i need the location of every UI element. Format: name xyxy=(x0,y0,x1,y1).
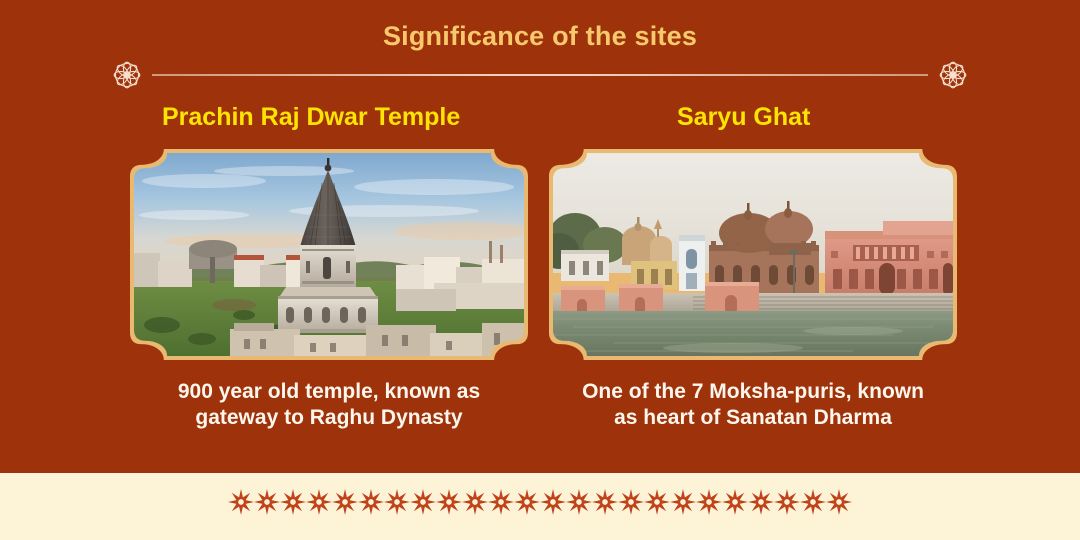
site-caption: 900 year old temple, known as gateway to… xyxy=(130,379,528,433)
eight-point-star-icon xyxy=(410,489,436,517)
photo-frame xyxy=(549,149,957,360)
site-heading: Prachin Raj Dwar Temple xyxy=(132,104,528,132)
eight-point-star-icon xyxy=(384,489,410,517)
photo-frame xyxy=(130,149,528,360)
site-card-saryu-ghat: Saryu Ghat xyxy=(549,104,957,432)
eight-point-star-icon xyxy=(436,489,462,517)
eight-point-star-icon xyxy=(514,489,540,517)
eight-point-star-icon xyxy=(306,489,332,517)
eight-point-star-icon xyxy=(280,489,306,517)
eight-point-star-icon xyxy=(826,489,852,517)
eight-point-star-icon xyxy=(722,489,748,517)
site-caption: One of the 7 Moksha-puris, known as hear… xyxy=(549,379,957,433)
mandala-flower-icon xyxy=(936,58,970,92)
mandala-flower-icon xyxy=(110,58,144,92)
eight-point-star-icon xyxy=(618,489,644,517)
site-heading: Saryu Ghat xyxy=(551,104,957,132)
decorative-divider xyxy=(110,58,970,92)
eight-point-star-icon xyxy=(774,489,800,517)
footer-band xyxy=(0,473,1080,540)
eight-point-star-icon xyxy=(228,489,254,517)
eight-point-star-icon xyxy=(670,489,696,517)
eight-point-star-icon xyxy=(462,489,488,517)
eight-point-star-icon xyxy=(748,489,774,517)
eight-point-star-icon xyxy=(540,489,566,517)
prachin-raj-dwar-temple-photo xyxy=(134,153,524,356)
eight-point-star-icon xyxy=(332,489,358,517)
eight-point-star-icon xyxy=(644,489,670,517)
eight-point-star-icon xyxy=(358,489,384,517)
eight-point-star-icon xyxy=(696,489,722,517)
divider-rule xyxy=(152,74,928,76)
eight-point-star-icon xyxy=(800,489,826,517)
page-title: Significance of the sites xyxy=(0,21,1080,52)
site-card-prachin-raj-dwar-temple: Prachin Raj Dwar Temple xyxy=(130,104,528,432)
eight-point-star-icon xyxy=(592,489,618,517)
eight-point-star-icon xyxy=(488,489,514,517)
caption-line-1: 900 year old temple, known as xyxy=(130,379,528,406)
caption-line-2: as heart of Sanatan Dharma xyxy=(549,405,957,432)
caption-line-1: One of the 7 Moksha-puris, known xyxy=(549,379,957,406)
caption-line-2: gateway to Raghu Dynasty xyxy=(130,405,528,432)
slide-canvas: Significance of the sites xyxy=(0,0,1080,540)
star-ornament-strip xyxy=(228,487,858,519)
eight-point-star-icon xyxy=(566,489,592,517)
saryu-ghat-photo xyxy=(553,153,953,356)
eight-point-star-icon xyxy=(254,489,280,517)
